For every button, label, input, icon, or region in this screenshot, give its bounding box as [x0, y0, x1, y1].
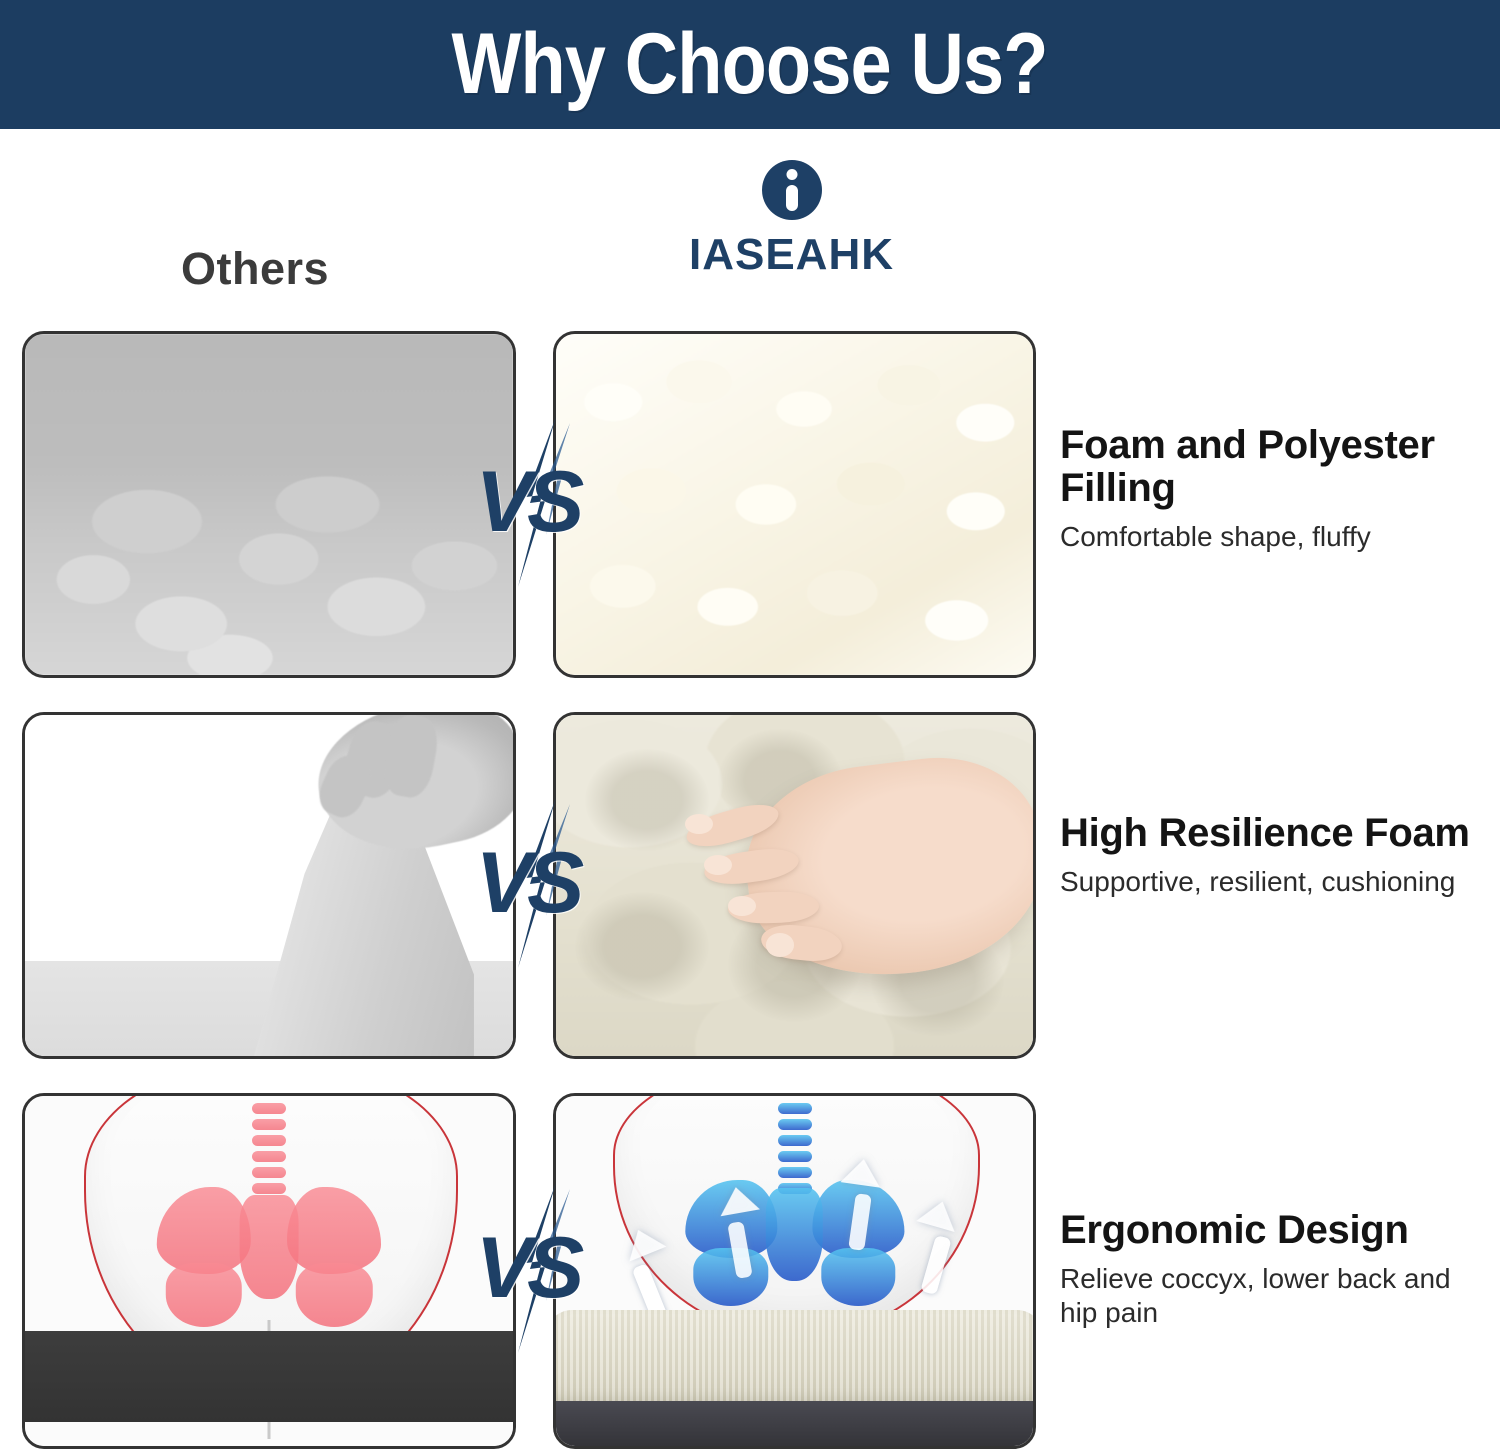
info-circle-icon: [762, 160, 822, 220]
feature-block-3: Ergonomic Design Relieve coccyx, lower b…: [1060, 1209, 1490, 1329]
ischium-right: [296, 1263, 372, 1327]
comparison-image-brand-2: [553, 712, 1036, 1059]
sacrum: [766, 1188, 823, 1281]
feature-block-1: Foam and Polyester Filling Comfortable s…: [1060, 424, 1490, 554]
comparison-image-brand-1: [553, 331, 1036, 678]
feature-title-2: High Resilience Foam: [1060, 812, 1490, 855]
comparison-image-others-3: [22, 1093, 516, 1449]
brand-name: IASEAHK: [553, 230, 1030, 280]
feature-block-2: High Resilience Foam Supportive, resilie…: [1060, 812, 1490, 899]
ischium-left: [694, 1248, 769, 1306]
page-title: Why Choose Us?: [452, 15, 1048, 114]
cushion-tuft: [575, 892, 709, 1001]
comparison-image-others-2: [22, 712, 516, 1059]
seat-cushion: [553, 1310, 1036, 1408]
info-icon-stem: [786, 185, 798, 211]
ischium-right: [821, 1248, 896, 1306]
feature-title-3: Ergonomic Design: [1060, 1209, 1490, 1252]
comparison-image-others-1: [22, 331, 516, 678]
hard-seat-surface: [25, 1331, 513, 1422]
pelvis-red: [157, 1187, 381, 1327]
ilium-right: [287, 1187, 381, 1274]
thin-foam-sheet-image: [25, 715, 513, 1056]
feature-subtitle-2: Supportive, resilient, cushioning: [1060, 865, 1490, 899]
brand-column-header: IASEAHK: [553, 160, 1030, 280]
support-arrow-head: [841, 1156, 884, 1187]
feature-subtitle-3: Relieve coccyx, lower back and hip pain: [1060, 1262, 1490, 1329]
feature-subtitle-1: Comfortable shape, fluffy: [1060, 520, 1490, 554]
feature-title-1: Foam and Polyester Filling: [1060, 424, 1490, 510]
comparison-image-brand-3: [553, 1093, 1036, 1449]
page-header: Why Choose Us?: [0, 0, 1500, 129]
others-column-label: Others: [0, 243, 510, 295]
pelvis-on-cushion-image: [556, 1096, 1033, 1446]
ischium-left: [166, 1263, 242, 1327]
polyester-fibre-fill-image: [25, 334, 513, 675]
info-icon-dot: [786, 169, 797, 180]
chair-seat-base: [553, 1401, 1036, 1447]
shredded-foam-chunks-image: [556, 334, 1033, 675]
ilium-left: [157, 1187, 251, 1274]
beige-cushion-press-image: [556, 715, 1033, 1056]
sacrum: [240, 1195, 298, 1299]
pelvis-on-hard-seat-image: [25, 1096, 513, 1446]
